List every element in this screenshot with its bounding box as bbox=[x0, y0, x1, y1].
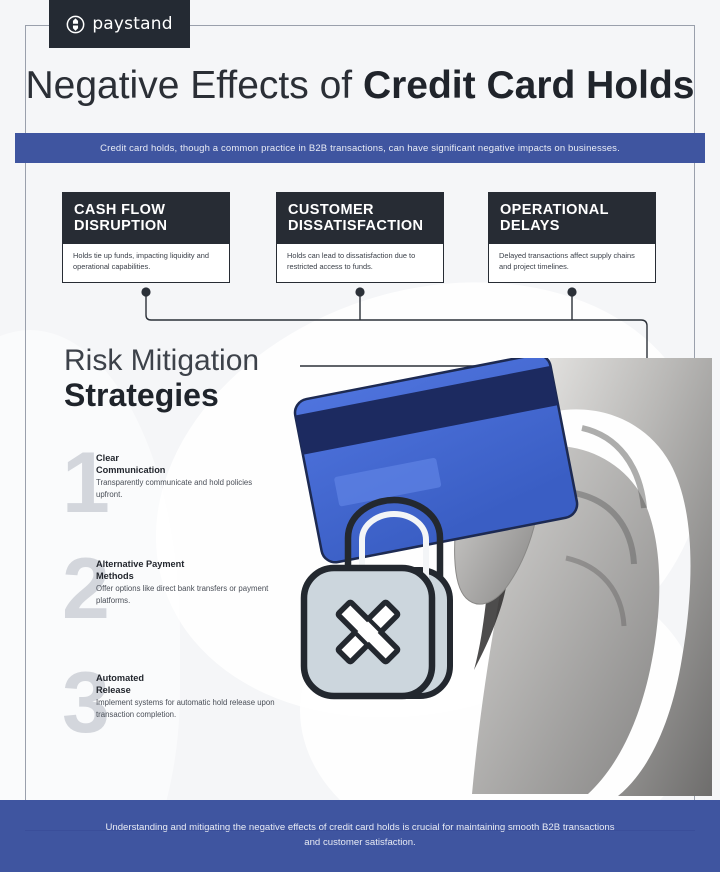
effect-card-customer: CUSTOMER DISSATISFACTION Holds can lead … bbox=[276, 192, 444, 283]
effect-card-heading-line1: CASH FLOW bbox=[74, 202, 218, 218]
effect-card-heading: CASH FLOW DISRUPTION bbox=[63, 193, 229, 244]
effect-card-description: Delayed transactions affect supply chain… bbox=[489, 244, 655, 281]
effect-card-heading-line2: DELAYS bbox=[500, 218, 644, 234]
strategy-item-2: 2 Alternative Payment Methods Offer opti… bbox=[62, 558, 277, 606]
effect-cards-group: CASH FLOW DISRUPTION Holds tie up funds,… bbox=[0, 192, 720, 292]
page-title-light: Negative Effects of bbox=[25, 64, 362, 107]
strategy-title-line1: Automated bbox=[96, 672, 277, 684]
strategy-title-line1: Alternative Payment bbox=[96, 558, 277, 570]
footer-frame-line bbox=[25, 830, 695, 831]
risk-mitigation-heading: Risk Mitigation Strategies bbox=[64, 345, 259, 412]
strategy-title-line2: Methods bbox=[96, 570, 277, 582]
strategy-description: Implement systems for automatic hold rel… bbox=[96, 697, 277, 720]
artwork-hand-card-padlock bbox=[282, 358, 712, 798]
effect-card-heading: CUSTOMER DISSATISFACTION bbox=[277, 193, 443, 244]
strategy-title-line1: Clear bbox=[96, 452, 277, 464]
paystand-logo: paystand bbox=[49, 0, 190, 48]
strategy-description: Offer options like direct bank transfers… bbox=[96, 583, 277, 606]
infographic-poster: paystand Negative Effects of Credit Card… bbox=[0, 0, 720, 872]
effect-card-heading-line1: OPERATIONAL bbox=[500, 202, 644, 218]
page-title-bold: Credit Card Holds bbox=[363, 64, 695, 107]
effect-card-description: Holds can lead to dissatisfaction due to… bbox=[277, 244, 443, 281]
paystand-hexagon-icon bbox=[66, 15, 85, 34]
effect-card-cash-flow: CASH FLOW DISRUPTION Holds tie up funds,… bbox=[62, 192, 230, 283]
effect-card-heading-line1: CUSTOMER bbox=[288, 202, 432, 218]
risk-mitigation-line1: Risk Mitigation bbox=[64, 345, 259, 377]
page-title: Negative Effects of Credit Card Holds bbox=[0, 64, 720, 108]
strategy-title-line2: Communication bbox=[96, 464, 277, 476]
strategy-item-1: 1 Clear Communication Transparently comm… bbox=[62, 452, 277, 500]
footer-text: Understanding and mitigating the negativ… bbox=[100, 821, 620, 851]
effect-card-operational: OPERATIONAL DELAYS Delayed transactions … bbox=[488, 192, 656, 283]
effect-card-heading-line2: DISSATISFACTION bbox=[288, 218, 432, 234]
effect-card-description: Holds tie up funds, impacting liquidity … bbox=[63, 244, 229, 281]
strategy-item-3: 3 Automated Release Implement systems fo… bbox=[62, 672, 277, 720]
subtitle-text: Credit card holds, though a common pract… bbox=[100, 143, 620, 154]
subtitle-bar: Credit card holds, though a common pract… bbox=[15, 133, 705, 163]
risk-mitigation-line2: Strategies bbox=[64, 379, 259, 413]
strategy-description: Transparently communicate and hold polic… bbox=[96, 477, 277, 500]
effect-card-heading-line2: DISRUPTION bbox=[74, 218, 218, 234]
footer-bar: Understanding and mitigating the negativ… bbox=[0, 800, 720, 872]
paystand-logo-text: paystand bbox=[92, 14, 172, 34]
effect-card-heading: OPERATIONAL DELAYS bbox=[489, 193, 655, 244]
strategy-title-line2: Release bbox=[96, 684, 277, 696]
